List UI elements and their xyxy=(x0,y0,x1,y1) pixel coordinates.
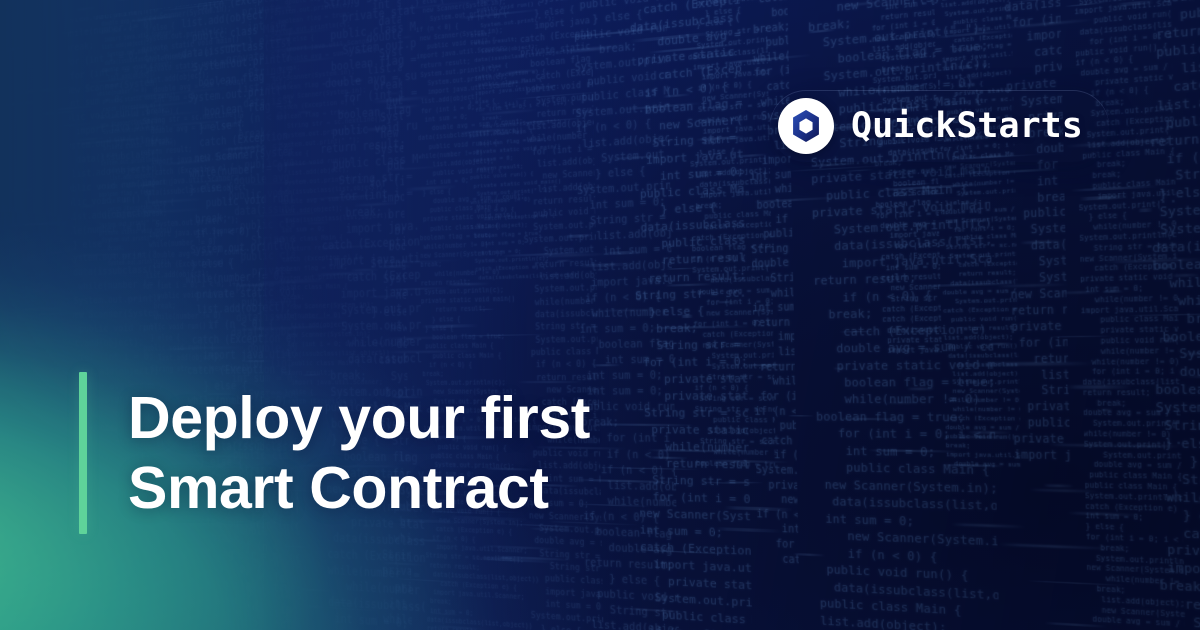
quickstarts-badge[interactable]: QuickStarts xyxy=(770,90,1109,162)
quickstarts-banner: data(issubclass(list,object)) boolean fl… xyxy=(0,0,1200,630)
page-title: Deploy your first Smart Contract xyxy=(128,372,590,534)
headline-line-2: Smart Contract xyxy=(128,453,590,523)
chainlink-hexagon-icon xyxy=(778,98,834,154)
headline-group: Deploy your first Smart Contract xyxy=(79,372,590,534)
headline-line-1: Deploy your first xyxy=(128,383,590,453)
accent-bar xyxy=(79,372,87,534)
badge-label: QuickStarts xyxy=(851,109,1083,144)
